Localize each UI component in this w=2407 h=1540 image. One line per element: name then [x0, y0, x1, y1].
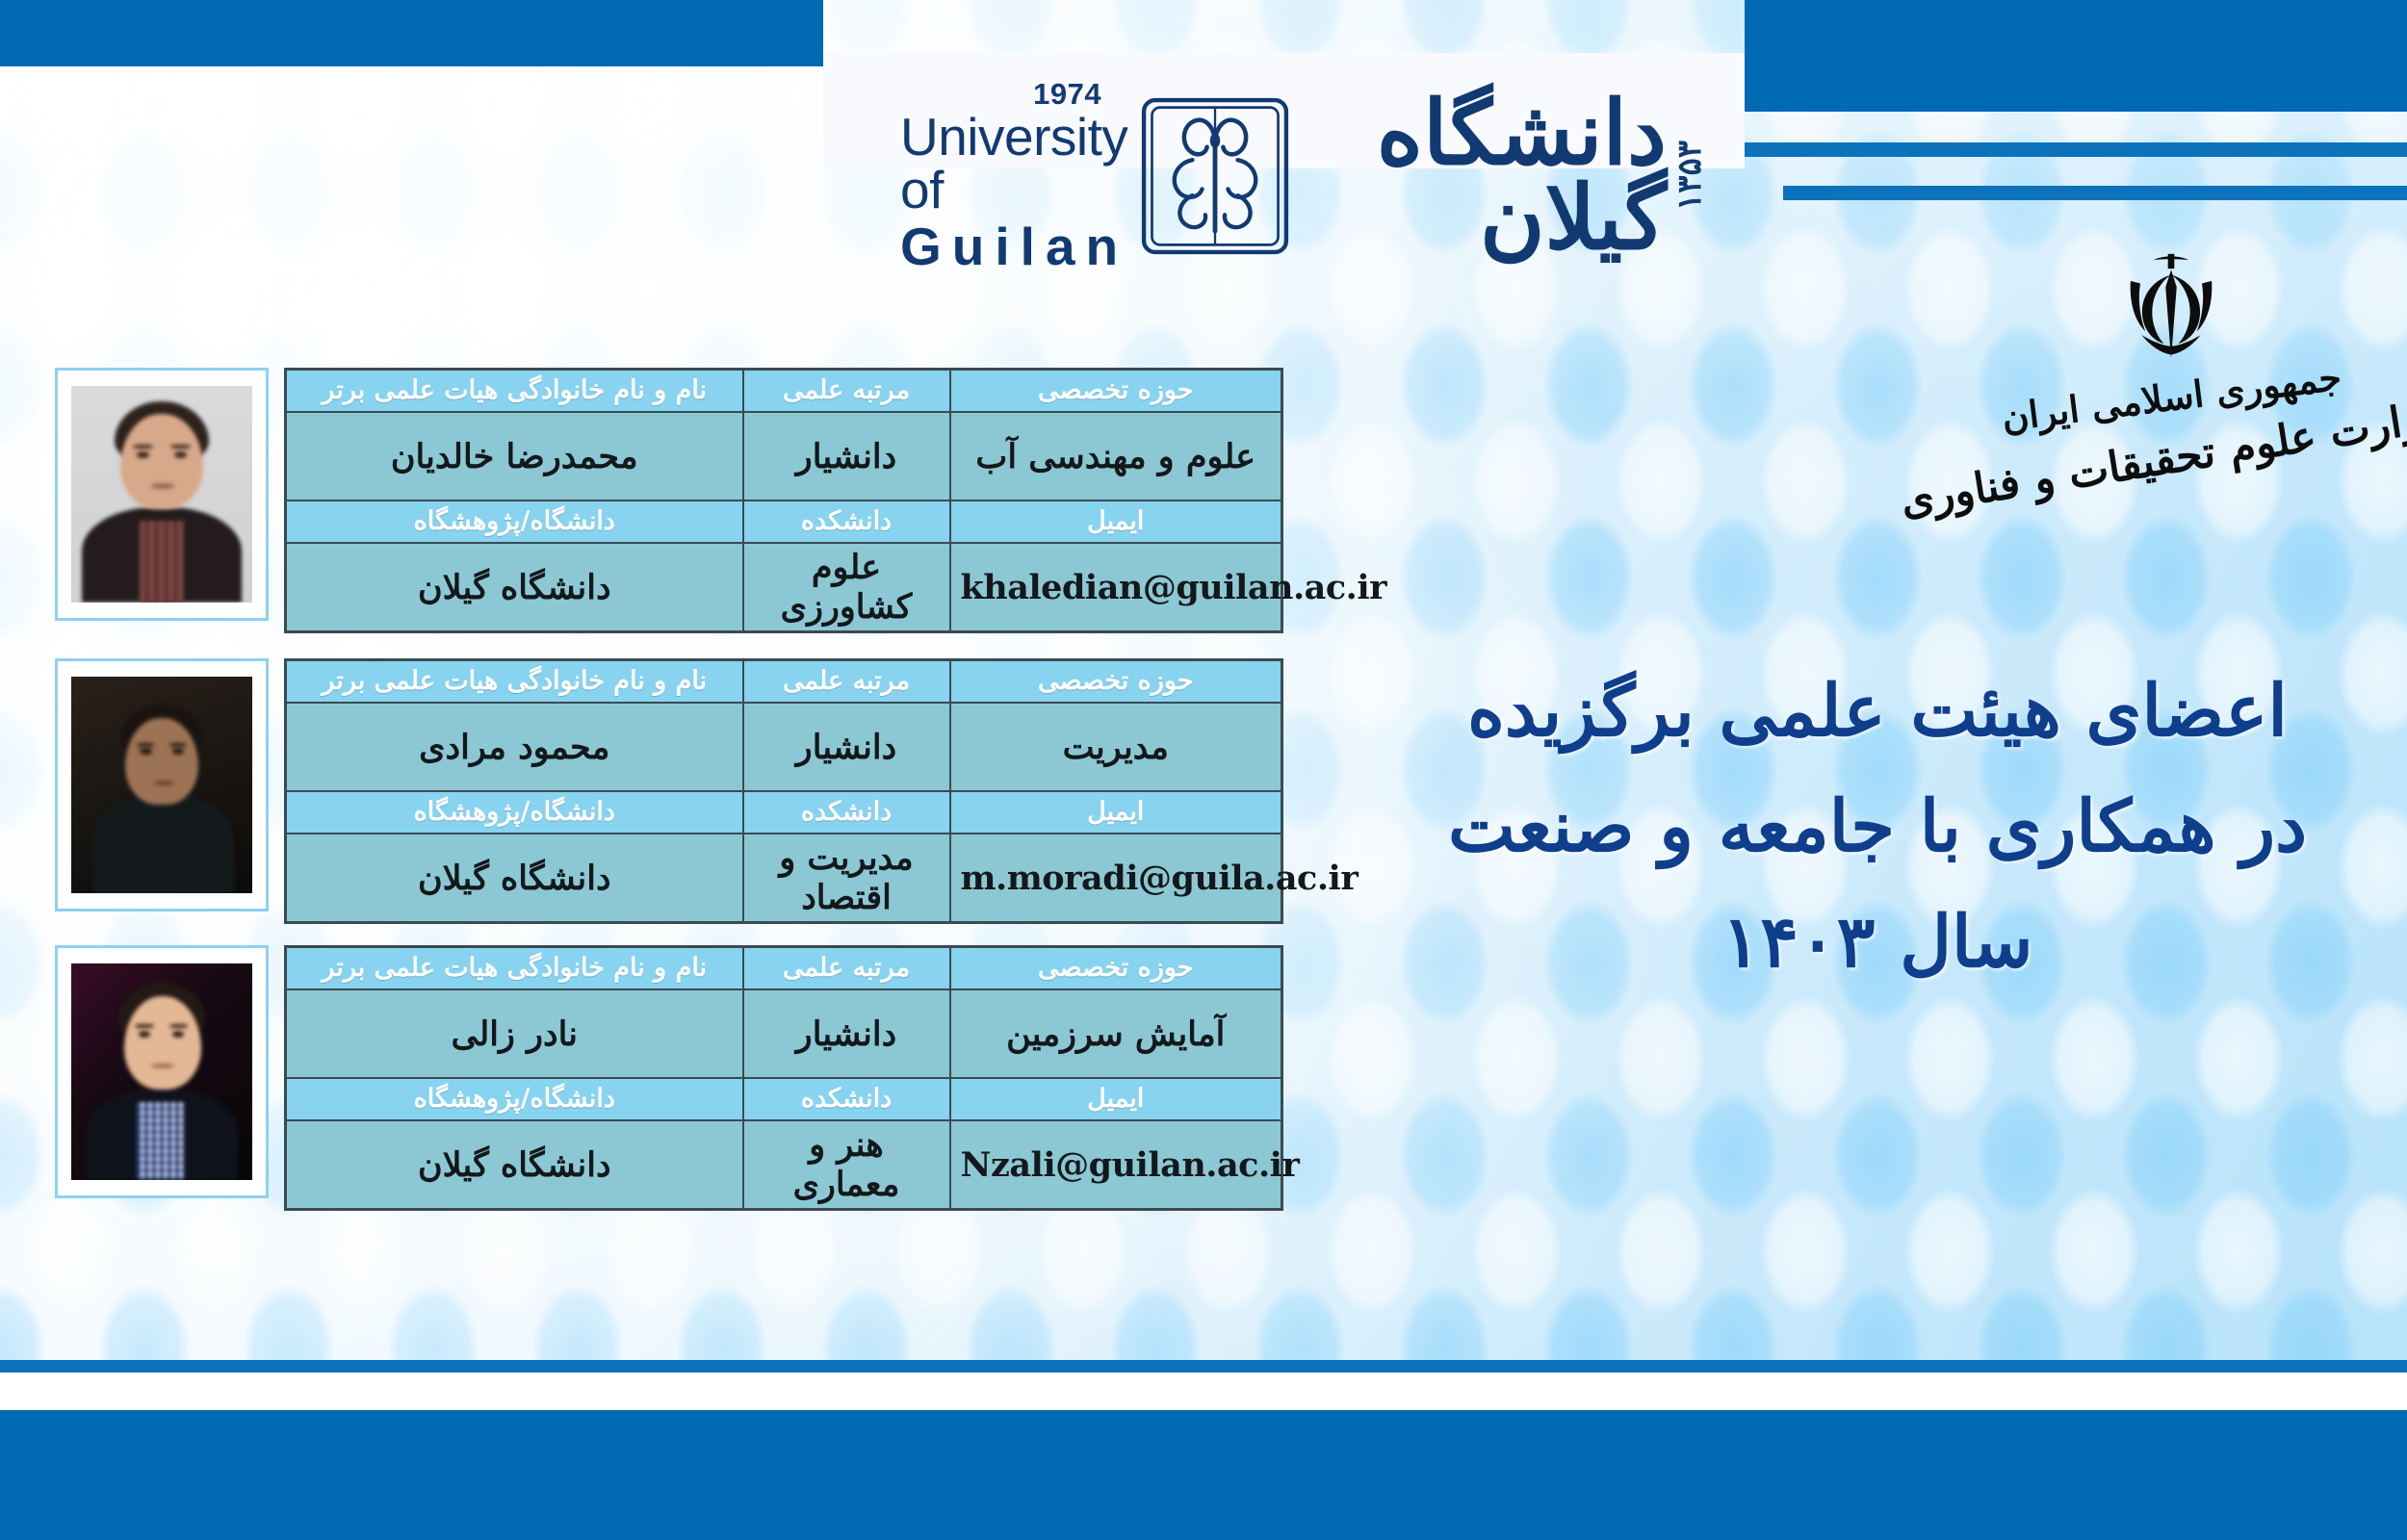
- faculty-record: حوزه تخصصی مرتبه علمی نام و نام خانوادگی…: [55, 658, 1283, 924]
- portrait-frame: [55, 945, 269, 1198]
- value-institution: دانشگاه گیلان: [286, 543, 743, 632]
- header-email: ایمیل: [950, 791, 1282, 834]
- footer-blue-block: [0, 1410, 2407, 1540]
- value-field: آمایش سرزمین: [950, 989, 1282, 1078]
- university-logo: 1974 University of Guilan ۱۳۵۳ دانشگاه گ…: [900, 91, 1709, 260]
- value-institution: دانشگاه گیلان: [286, 834, 743, 923]
- table-header-row-top: حوزه تخصصی مرتبه علمی نام و نام خانوادگی…: [286, 947, 1282, 990]
- value-email[interactable]: khaledian@guilan.ac.ir: [950, 543, 1282, 632]
- headline-line-1: اعضای هیئت علمی برگزیده: [1377, 654, 2378, 770]
- header-email: ایمیل: [950, 1078, 1282, 1120]
- header-blue-bar-left: [0, 0, 823, 66]
- value-field: مدیریت: [950, 703, 1282, 791]
- ministry-emblem-block: جمهوری اسلامی ایران وزارت علوم تحقیقات و…: [1983, 250, 2359, 483]
- portrait-nader-zali: [71, 963, 252, 1180]
- header-blue-bar-right: [1745, 0, 2407, 112]
- value-rank: دانشیار: [743, 703, 950, 791]
- header-faculty: دانشکده: [743, 1078, 950, 1120]
- header-institution: دانشگاه/پژوهشگاه: [286, 1078, 743, 1120]
- table-row: Nzali@guilan.ac.ir هنر و معماری دانشگاه …: [286, 1120, 1282, 1210]
- value-name: محمدرضا خالدیان: [286, 412, 743, 500]
- header-rank: مرتبه علمی: [743, 947, 950, 990]
- table-row: آمایش سرزمین دانشیار نادر زالی: [286, 989, 1282, 1078]
- header-name: نام و نام خانوادگی هیات علمی برتر: [286, 370, 743, 413]
- value-field: علوم و مهندسی آب: [950, 412, 1282, 500]
- faculty-record: حوزه تخصصی مرتبه علمی نام و نام خانوادگی…: [55, 368, 1283, 633]
- header-accent-rule-1: [1745, 142, 2407, 157]
- portrait-frame: [55, 658, 269, 911]
- logo-university-word: University of: [900, 111, 1128, 217]
- header-faculty: دانشکده: [743, 791, 950, 834]
- header-faculty: دانشکده: [743, 500, 950, 543]
- faculty-info-table: حوزه تخصصی مرتبه علمی نام و نام خانوادگی…: [284, 658, 1283, 924]
- table-header-row-top: حوزه تخصصی مرتبه علمی نام و نام خانوادگی…: [286, 660, 1282, 704]
- footer-accent-rule: [0, 1360, 2407, 1373]
- value-rank: دانشیار: [743, 412, 950, 500]
- header-institution: دانشگاه/پژوهشگاه: [286, 791, 743, 834]
- portrait-frame: [55, 368, 269, 621]
- value-rank: دانشیار: [743, 989, 950, 1078]
- header-field: حوزه تخصصی: [950, 660, 1282, 704]
- headline-line-2: در همکاری با جامعه و صنعت: [1377, 770, 2378, 885]
- poster-canvas: 1974 University of Guilan ۱۳۵۳ دانشگاه گ…: [0, 0, 2407, 1540]
- header-email: ایمیل: [950, 500, 1282, 543]
- guilan-university-butterfly-emblem: [1134, 95, 1296, 257]
- poster-headline: اعضای هیئت علمی برگزیده در همکاری با جام…: [1377, 654, 2378, 1001]
- headline-line-3: سال ۱۴۰۳: [1377, 885, 2378, 1001]
- logo-guilan-word: Guilan: [900, 220, 1128, 273]
- table-row: مدیریت دانشیار محمود مرادی: [286, 703, 1282, 791]
- header-institution: دانشگاه/پژوهشگاه: [286, 500, 743, 543]
- table-header-row-bottom: ایمیل دانشکده دانشگاه/پژوهشگاه: [286, 1078, 1282, 1120]
- value-email[interactable]: m.moradi@guila.ac.ir: [950, 834, 1282, 923]
- header-rank: مرتبه علمی: [743, 370, 950, 413]
- faculty-info-table: حوزه تخصصی مرتبه علمی نام و نام خانوادگی…: [284, 368, 1283, 633]
- value-email[interactable]: Nzali@guilan.ac.ir: [950, 1120, 1282, 1210]
- table-header-row-top: حوزه تخصصی مرتبه علمی نام و نام خانوادگی…: [286, 370, 1282, 413]
- header-name: نام و نام خانوادگی هیات علمی برتر: [286, 660, 743, 704]
- value-name: محمود مرادی: [286, 703, 743, 791]
- logo-university-name-persian: دانشگاه گیلان: [1302, 91, 1667, 260]
- table-row: m.moradi@guila.ac.ir مدیریت و اقتصاد دان…: [286, 834, 1282, 923]
- header-accent-rule-2: [1783, 186, 2407, 200]
- logo-english-lockup: 1974 University of Guilan: [900, 79, 1128, 273]
- faculty-info-table: حوزه تخصصی مرتبه علمی نام و نام خانوادگی…: [284, 945, 1283, 1211]
- table-header-row-bottom: ایمیل دانشکده دانشگاه/پژوهشگاه: [286, 791, 1282, 834]
- value-institution: دانشگاه گیلان: [286, 1120, 743, 1210]
- header-field: حوزه تخصصی: [950, 370, 1282, 413]
- value-faculty: علوم کشاورزی: [743, 543, 950, 632]
- value-name: نادر زالی: [286, 989, 743, 1078]
- header-name: نام و نام خانوادگی هیات علمی برتر: [286, 947, 743, 990]
- logo-founding-year-latin: 1974: [1033, 79, 1101, 109]
- iran-national-emblem: [2109, 250, 2233, 366]
- footer-white-band: [0, 1373, 2407, 1410]
- table-row: علوم و مهندسی آب دانشیار محمدرضا خالدیان: [286, 412, 1282, 500]
- value-faculty: هنر و معماری: [743, 1120, 950, 1210]
- header-field: حوزه تخصصی: [950, 947, 1282, 990]
- table-header-row-bottom: ایمیل دانشکده دانشگاه/پژوهشگاه: [286, 500, 1282, 543]
- logo-founding-year-persian: ۱۳۵۳: [1670, 141, 1709, 211]
- portrait-mahmoud-moradi: [71, 677, 252, 893]
- value-faculty: مدیریت و اقتصاد: [743, 834, 950, 923]
- portrait-mohammadreza-khaledian: [71, 386, 252, 603]
- logo-persian-lockup: ۱۳۵۳ دانشگاه گیلان: [1302, 91, 1709, 260]
- table-row: khaledian@guilan.ac.ir علوم کشاورزی دانش…: [286, 543, 1282, 632]
- header-rank: مرتبه علمی: [743, 660, 950, 704]
- faculty-record: حوزه تخصصی مرتبه علمی نام و نام خانوادگی…: [55, 945, 1283, 1211]
